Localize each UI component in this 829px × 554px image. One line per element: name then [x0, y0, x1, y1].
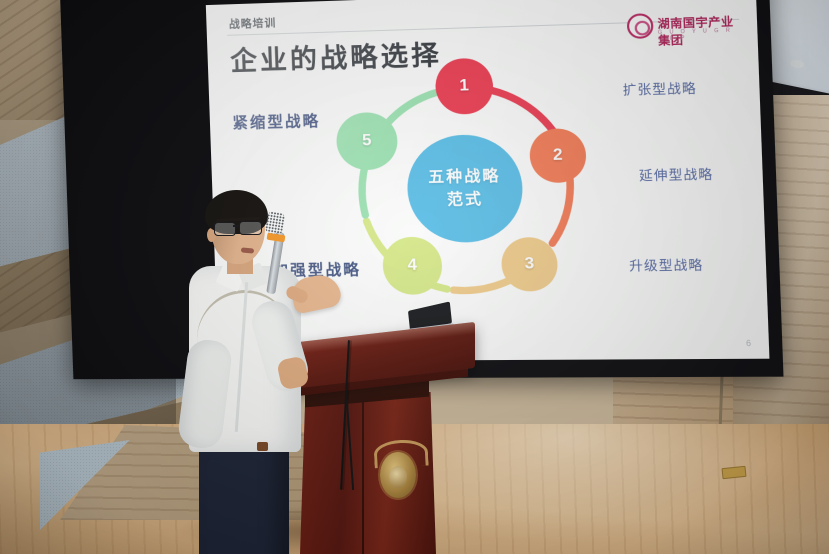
- center-line-1: 五种战略: [428, 165, 501, 189]
- presentation-photo: 战略培训 企业的战略选择 湖南国宇产业集团 G U O Y U G R O U …: [0, 0, 829, 554]
- label-extension-strategy: 延伸型战略: [639, 163, 714, 184]
- lectern-seam: [362, 392, 364, 554]
- strategy-ring-diagram: 1 2 3 4 5 五种战略 范式: [330, 56, 614, 317]
- eyeglasses-lens-right: [239, 221, 262, 235]
- ring-node-5-number: 5: [362, 132, 372, 151]
- ring-node-3: 3: [501, 237, 559, 292]
- label-contraction-strategy: 紧缩型战略: [232, 110, 321, 133]
- logo-subtext: G U O Y U G R O U P: [658, 27, 742, 42]
- label-upgrade-strategy: 升级型战略: [629, 254, 704, 275]
- ring-node-1-number: 1: [459, 77, 469, 96]
- speaker-trousers: [199, 440, 289, 554]
- lectern-emblem-inner: [389, 466, 407, 488]
- ring-node-4-number: 4: [407, 256, 417, 275]
- center-line-2: 范式: [447, 188, 484, 211]
- microphone-icon: [264, 211, 285, 236]
- slide-kicker: 战略培训: [229, 15, 277, 32]
- ring-node-3-number: 3: [524, 255, 534, 274]
- eyeglasses-bridge: [233, 225, 240, 227]
- speaker: [183, 190, 315, 554]
- belt-loop-tab: [257, 442, 268, 451]
- floor-light-reflection: [430, 424, 829, 554]
- company-logo: 湖南国宇产业集团 G U O Y U G R O U P: [627, 10, 742, 41]
- logo-mark-icon: [627, 13, 654, 39]
- slide-page-number: 6: [746, 339, 751, 349]
- label-expansion-strategy: 扩张型战略: [622, 77, 697, 99]
- ring-node-2-number: 2: [553, 146, 563, 165]
